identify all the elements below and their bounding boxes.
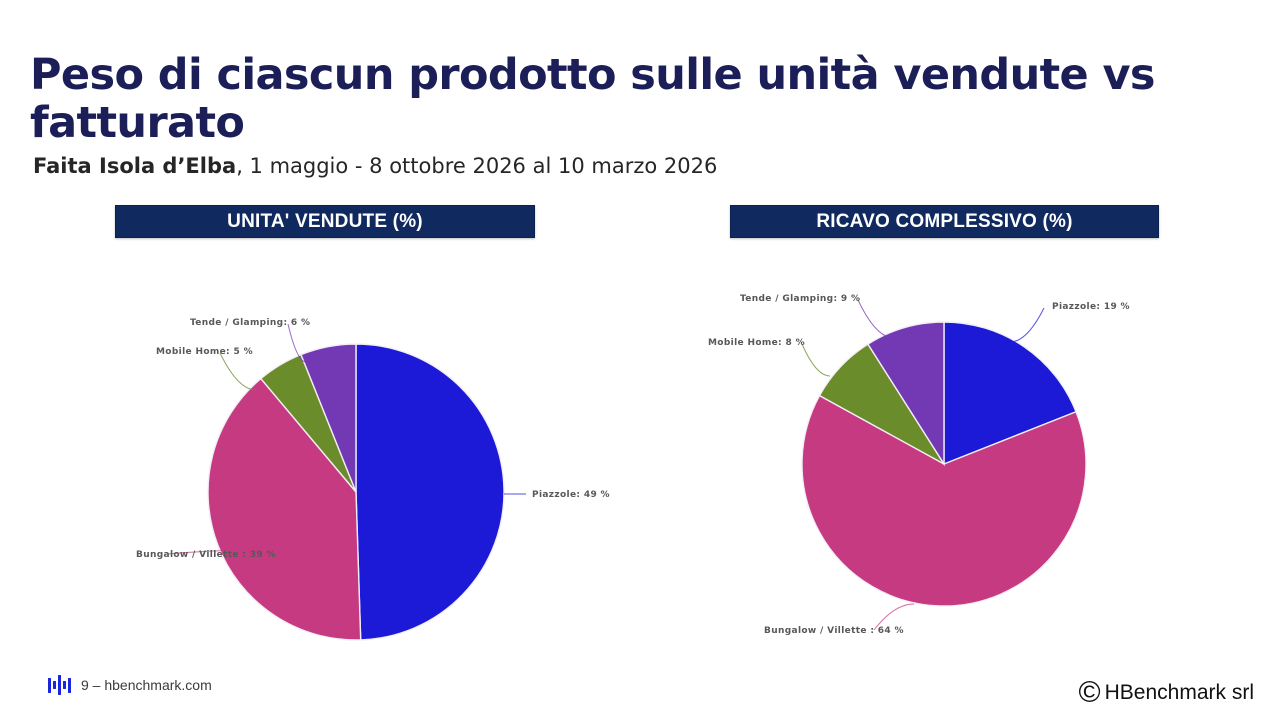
pie-svg-ricavo-complessivo: Piazzole: 19 %Bungalow / Villette : 64 %… [722,238,1167,658]
waveform-logo-icon [48,674,71,696]
pie-slice-label: Piazzole: 19 % [1052,302,1130,312]
chart-title-unita-vendute: UNITA' VENDUTE (%) [227,211,423,233]
slide-canvas: Peso di ciascun prodotto sulle unità ven… [0,0,1280,720]
page-title: Peso di ciascun prodotto sulle unità ven… [30,51,1220,147]
pie-slice-piazzole[interactable] [356,344,504,640]
subtitle-location: Faita Isola d’Elba [33,154,236,178]
subtitle-period: , 1 maggio - 8 ottobre 2026 al 10 marzo … [236,154,717,178]
chart-title-ricavo-complessivo: RICAVO COMPLESSIVO (%) [816,211,1072,233]
page-subtitle: Faita Isola d’Elba, 1 maggio - 8 ottobre… [33,154,717,178]
pie-slice-label: Piazzole: 49 % [532,490,610,500]
logo-bar [63,681,66,689]
footer-left: 9 – hbenchmark.com [48,674,212,696]
logo-bar [48,678,51,693]
pie-leader-line [1010,308,1044,342]
pie-slice-label: Mobile Home: 8 % [708,338,805,348]
pie-chart-ricavo-complessivo: Piazzole: 19 %Bungalow / Villette : 64 %… [722,238,1167,658]
pie-slice-label: Bungalow / Villette : 39 % [136,550,276,560]
copyright-label: HBenchmark srl [1105,681,1254,705]
chart-panel-ricavo-complessivo: RICAVO COMPLESSIVO (%) Piazzole: 19 %Bun… [722,205,1167,658]
pie-leader-line [220,353,256,390]
chart-panel-unita-vendute: UNITA' VENDUTE (%) Piazzole: 49 %Bungalo… [108,205,548,658]
pie-slice-label: Mobile Home: 5 % [156,347,253,357]
chart-title-bar-unita-vendute: UNITA' VENDUTE (%) [115,205,535,238]
footer-right: © HBenchmark srl [1079,678,1254,708]
logo-bar [53,681,56,689]
pie-chart-unita-vendute: Piazzole: 49 %Bungalow / Villette : 39 %… [108,238,548,658]
pie-svg-unita-vendute: Piazzole: 49 %Bungalow / Villette : 39 %… [108,238,548,658]
pie-leader-line [858,300,894,338]
pie-slice-label: Bungalow / Villette : 64 % [764,626,904,636]
logo-bar [58,675,61,695]
copyright-icon: © [1079,678,1101,708]
footer-page-label: 9 – hbenchmark.com [81,677,212,693]
pie-slice-label: Tende / Glamping: 6 % [190,318,310,328]
chart-title-bar-ricavo-complessivo: RICAVO COMPLESSIVO (%) [730,205,1159,238]
logo-bar [68,678,71,693]
pie-slice-label: Tende / Glamping: 9 % [740,294,860,304]
pie-leader-line [802,344,830,376]
